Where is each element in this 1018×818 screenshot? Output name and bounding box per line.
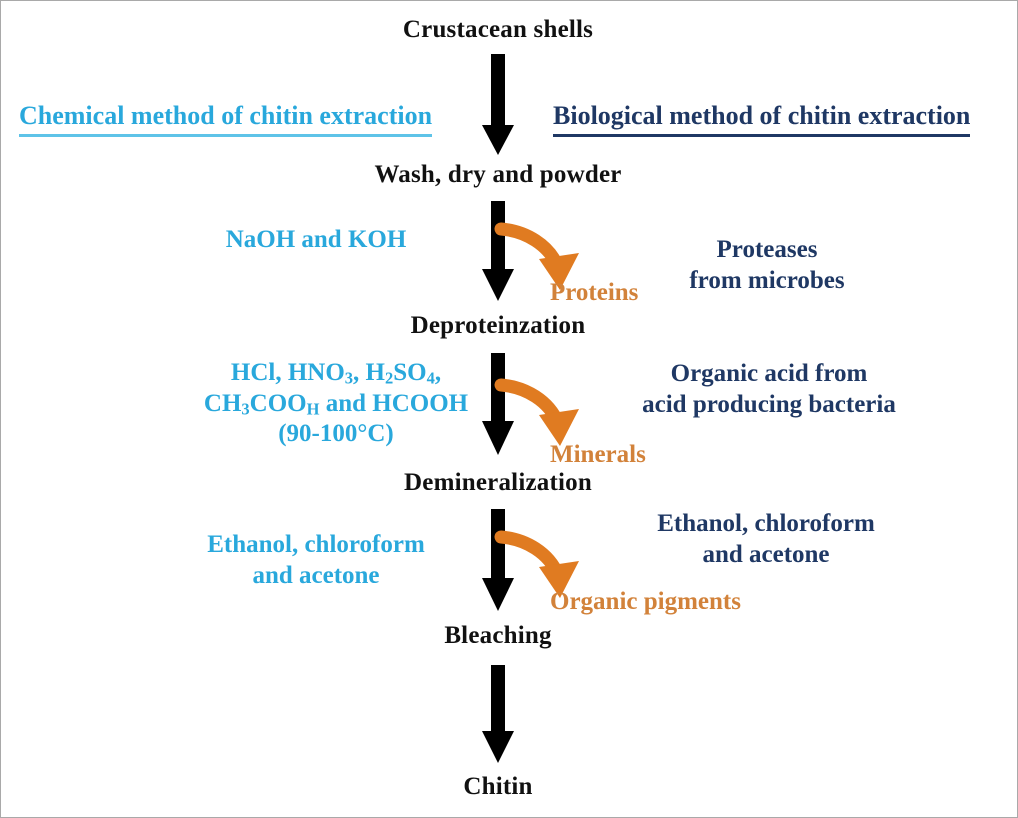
stage-demineralization: Demineralization bbox=[404, 469, 592, 497]
agent-organic-acid-line-1: Organic acid from bbox=[642, 359, 896, 390]
stage-bleaching: Bleaching bbox=[444, 622, 551, 650]
reagent-line-temperature: (90-100°C) bbox=[204, 419, 468, 450]
byproduct-proteins: Proteins bbox=[550, 279, 638, 307]
reagent-bleaching-chemical: Ethanol, chloroform and acetone bbox=[207, 530, 425, 591]
agent-deproteinzation-biological: Proteases from microbes bbox=[689, 235, 844, 296]
agent-proteases-line-1: Proteases bbox=[689, 235, 844, 266]
reagent-bleach-line-2: and acetone bbox=[207, 561, 425, 592]
arrow-demineralization-to-bleaching bbox=[482, 509, 514, 611]
agent-demineralization-biological: Organic acid from acid producing bacteri… bbox=[642, 359, 896, 420]
reagent-line-acids: HCl, HNO3, H2SO4, bbox=[204, 358, 468, 389]
reagent-deproteinzation-chemical: NaOH and KOH bbox=[226, 225, 407, 256]
agent-organic-acid-line-2: acid producing bacteria bbox=[642, 390, 896, 421]
stage-wash-dry-powder: Wash, dry and powder bbox=[374, 161, 621, 189]
arrow-shells-to-wash bbox=[482, 54, 514, 155]
agent-bleaching-biological: Ethanol, chloroform and acetone bbox=[657, 509, 875, 570]
byproduct-organic-pigments: Organic pigments bbox=[550, 588, 741, 616]
heading-biological-method: Biological method of chitin extraction bbox=[553, 101, 970, 137]
subscript-3: 3 bbox=[345, 369, 353, 388]
byproduct-minerals: Minerals bbox=[550, 441, 646, 469]
agent-bleach-line-2: and acetone bbox=[657, 540, 875, 571]
subscript-3b: 3 bbox=[241, 399, 249, 418]
arrow-bleaching-to-chitin bbox=[482, 665, 514, 763]
agent-bleach-line-1: Ethanol, chloroform bbox=[657, 509, 875, 540]
chitin-extraction-flowchart: Crustacean shells Wash, dry and powder D… bbox=[0, 0, 1018, 818]
reagent-line-organic-acids: CH3COOH and HCOOH bbox=[204, 389, 468, 420]
stage-crustacean-shells: Crustacean shells bbox=[403, 16, 593, 44]
agent-proteases-line-2: from microbes bbox=[689, 266, 844, 297]
subscript-h: H bbox=[307, 399, 320, 418]
arrow-branch-minerals bbox=[501, 385, 579, 446]
stage-deproteinzation: Deproteinzation bbox=[411, 312, 586, 340]
subscript-4: 4 bbox=[427, 369, 435, 388]
stage-chitin: Chitin bbox=[463, 773, 532, 801]
reagent-bleach-line-1: Ethanol, chloroform bbox=[207, 530, 425, 561]
arrow-deproteinzation-to-demineralization bbox=[482, 353, 514, 455]
reagent-demineralization-chemical: HCl, HNO3, H2SO4, CH3COOH and HCOOH (90-… bbox=[204, 358, 468, 450]
arrow-wash-to-deproteinzation bbox=[482, 201, 514, 301]
heading-chemical-method: Chemical method of chitin extraction bbox=[19, 101, 432, 137]
